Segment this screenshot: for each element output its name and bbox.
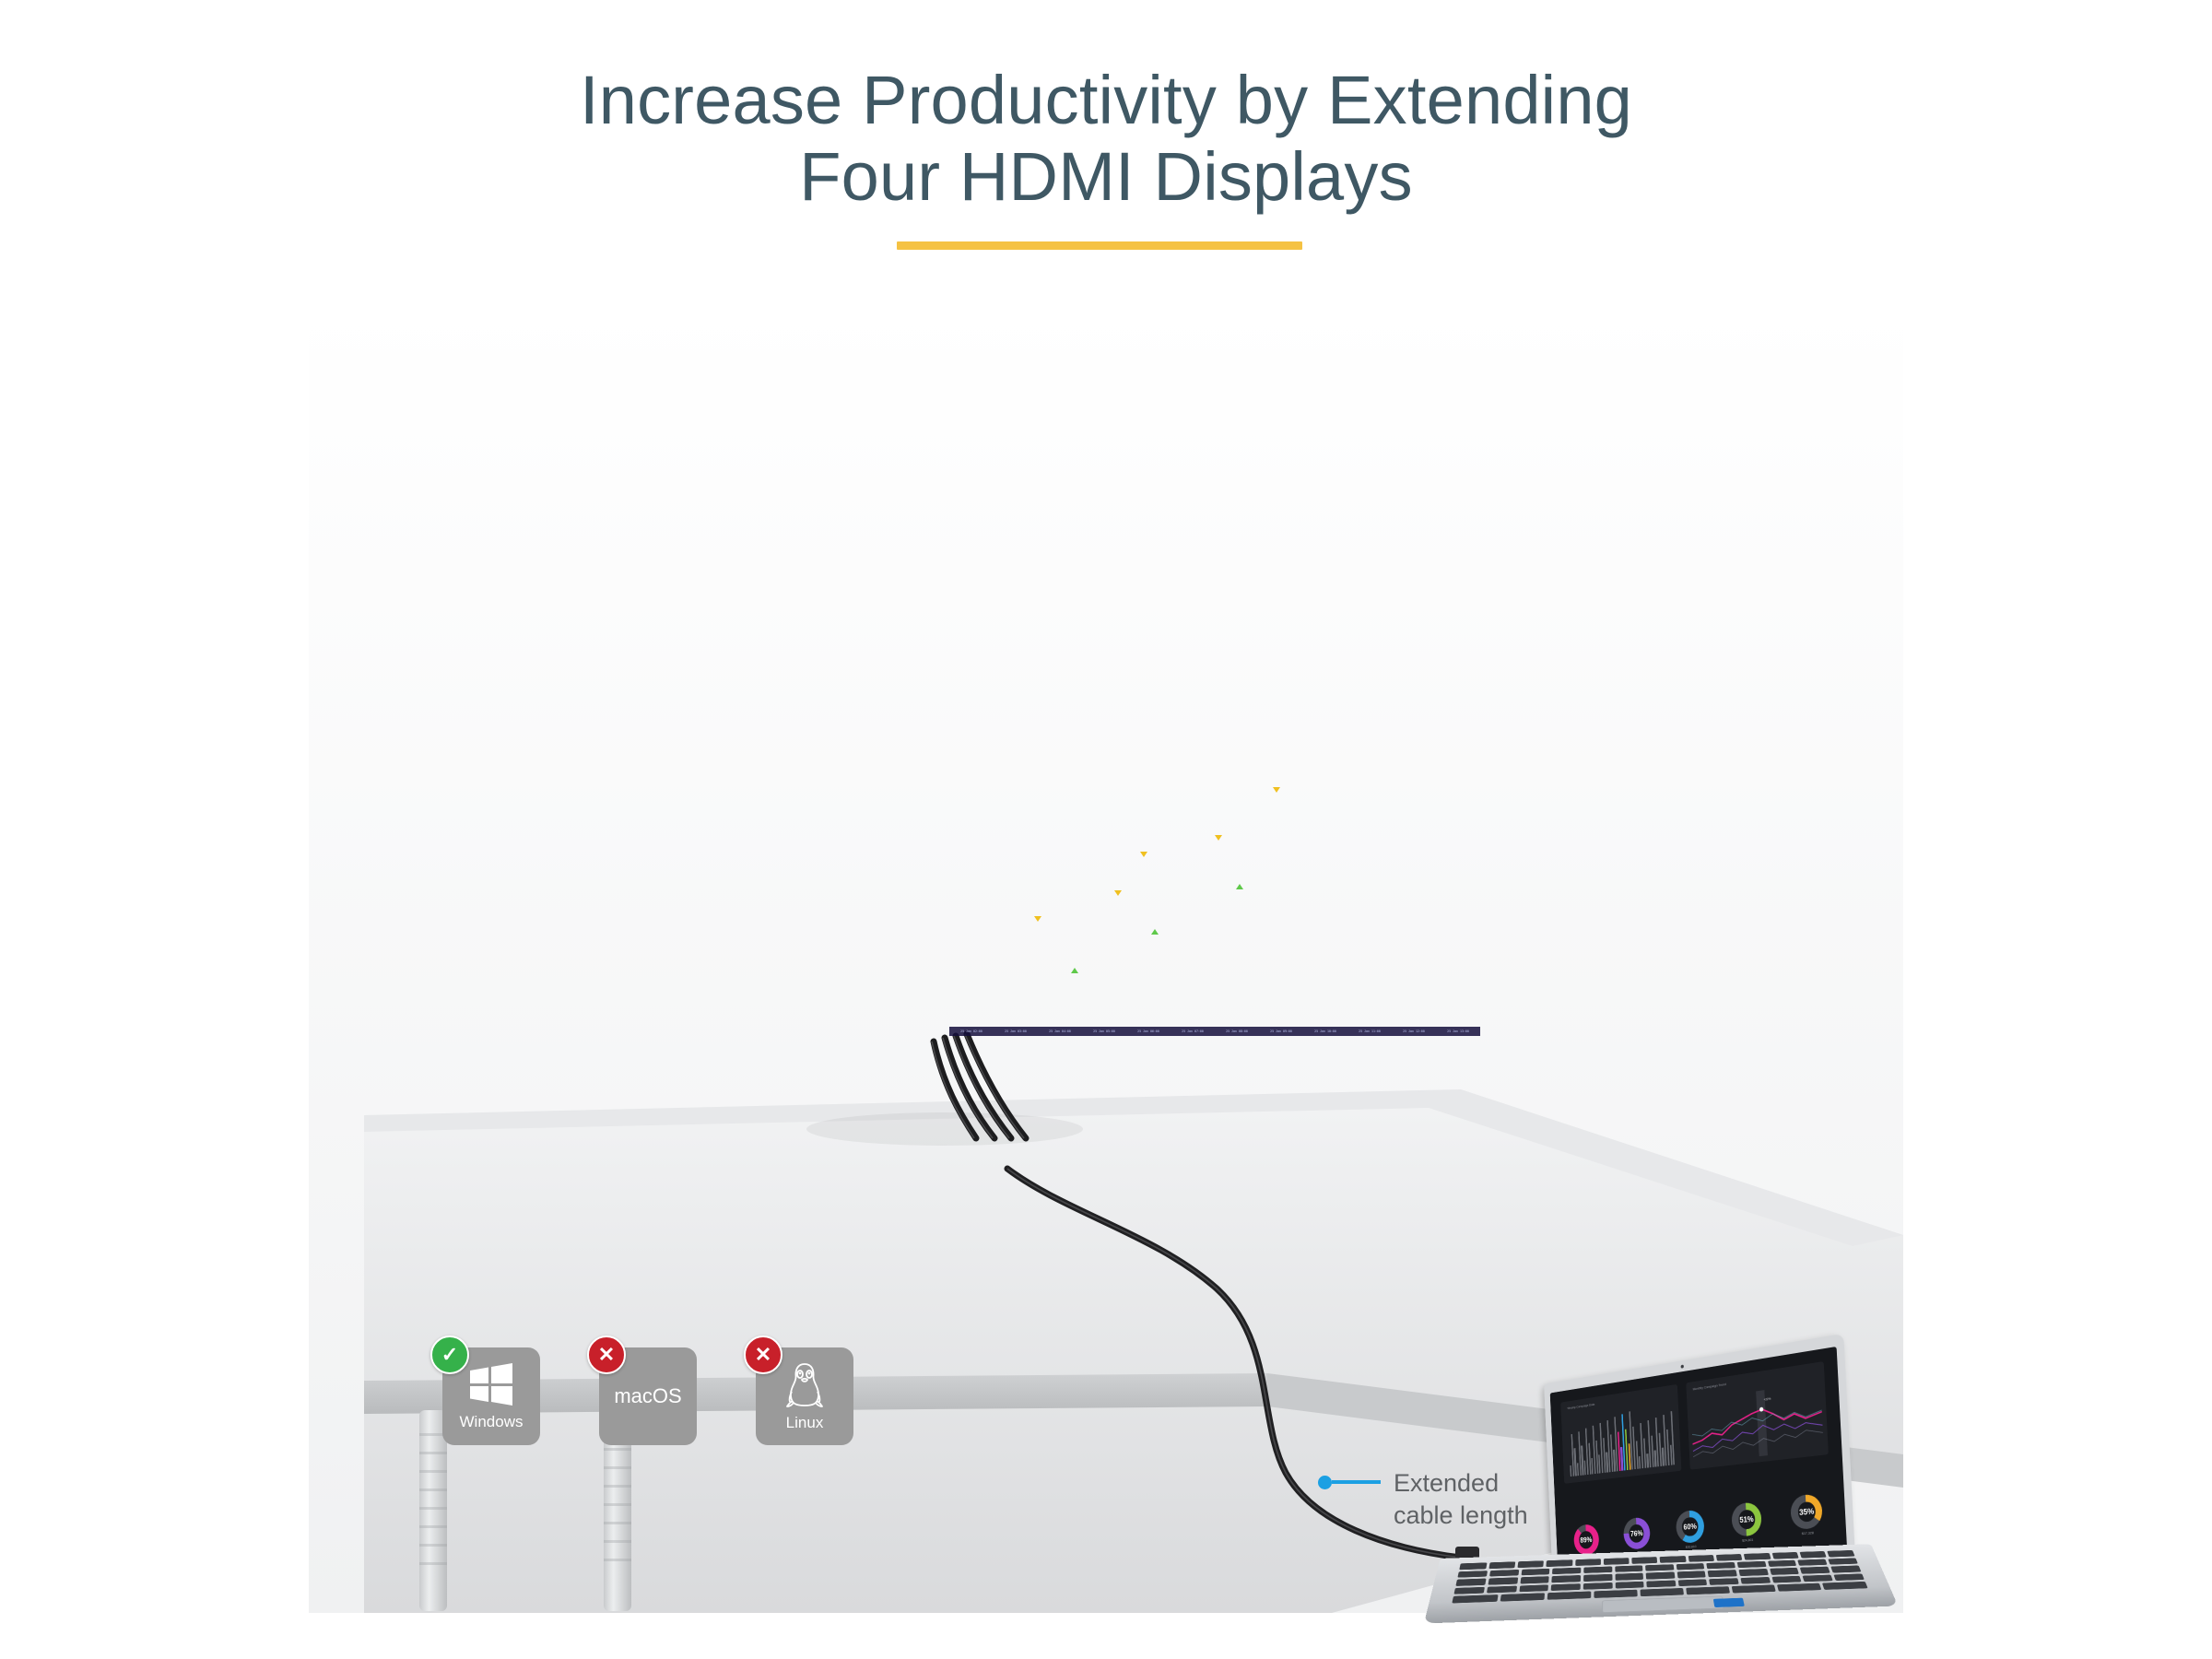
keyboard-key[interactable] bbox=[1707, 1562, 1735, 1570]
keyboard-key[interactable] bbox=[1688, 1555, 1715, 1561]
close-tab-icon[interactable]: × bbox=[686, 374, 688, 380]
balance-label: Balance: bbox=[765, 371, 813, 377]
timeframe-selector[interactable]: 30 days1 day3 hours30 min15 min5 min2 mi… bbox=[415, 662, 836, 674]
timeframe-option-2-min[interactable]: 2 min bbox=[776, 665, 836, 671]
table-cell: 400 bbox=[949, 400, 1031, 428]
chart-trend-tool-icon[interactable] bbox=[457, 610, 467, 620]
keyboard-key[interactable] bbox=[1458, 1571, 1488, 1578]
sentiment-lower-value: 40% bbox=[453, 581, 487, 589]
donut-percent-label: 51% bbox=[1738, 1510, 1756, 1530]
close-tab-icon[interactable]: × bbox=[641, 374, 644, 380]
keyboard-key[interactable] bbox=[1800, 1567, 1830, 1574]
keyboard-key[interactable] bbox=[1740, 1577, 1770, 1584]
support-24-7-tag: 24/7 bbox=[532, 681, 541, 687]
table-cell: 102.23 bbox=[1031, 455, 1121, 483]
keyboard-key[interactable] bbox=[1737, 1561, 1767, 1569]
keyboard-key[interactable] bbox=[1771, 1576, 1802, 1583]
timeframe-option-15-min[interactable]: 15 min bbox=[655, 663, 715, 673]
x-value-label: 16.432 bbox=[1369, 758, 1381, 761]
laptop-trackpad[interactable] bbox=[1602, 1596, 1724, 1613]
keyboard-key[interactable] bbox=[1677, 1571, 1706, 1579]
money-field[interactable]: Money 20 $ bbox=[843, 443, 926, 469]
monitor-top-left: Trading Zone EUR/USD×Bitcoin×Ethereum×Go… bbox=[384, 359, 937, 700]
table-row: 1,100210.57197.00231,630.33216,700.00 bbox=[949, 428, 1480, 455]
city-light bbox=[553, 913, 556, 916]
map-data-value: 61.07 bbox=[559, 806, 589, 818]
y-axis-label: 1.91243 bbox=[1465, 856, 1478, 860]
timeframe-option-30-days[interactable]: 30 days bbox=[415, 665, 475, 671]
grid-value-label: 6398.38 bbox=[1003, 793, 1017, 796]
monitor-stand-base bbox=[899, 1092, 965, 1116]
hub-label-band bbox=[969, 1159, 1035, 1166]
grid-value-label: 3756.82 bbox=[1247, 940, 1261, 944]
keyboard-key[interactable] bbox=[1800, 1551, 1827, 1558]
sidebar-item-favorites[interactable]: ★Favorites bbox=[395, 515, 410, 535]
monitor-screen: 21.172709.54217.8841.692730.12116.0961.0… bbox=[391, 712, 931, 1036]
city-light bbox=[855, 913, 858, 916]
mail-icon[interactable]: ✉ bbox=[609, 681, 614, 688]
symbol-settings-icon[interactable] bbox=[486, 401, 491, 406]
windows-logo-icon bbox=[467, 1362, 515, 1408]
os-card-macos: ✕ macOS bbox=[599, 1347, 697, 1445]
symbol-selector[interactable]: EUR/USD bbox=[424, 398, 491, 409]
time-stepper[interactable]: + − bbox=[843, 426, 926, 438]
title-underline-accent bbox=[897, 241, 1302, 250]
sentiment-higher: higher 60% bbox=[453, 445, 487, 462]
profit-display: Profit: +50% +$10 bbox=[843, 489, 926, 524]
time-axis-label: 25 Jan 04:00 bbox=[1038, 1030, 1082, 1033]
sell-signal-marker bbox=[1215, 835, 1222, 841]
instrument-tab-eur-usd[interactable]: EUR/USD× bbox=[469, 371, 519, 392]
grid-value-label: 6838.64 bbox=[1124, 768, 1138, 771]
profit-percent: +50% bbox=[843, 496, 926, 516]
table-cell: 72.48 bbox=[1031, 483, 1121, 511]
y-axis-label: 2.06936 bbox=[1465, 815, 1478, 818]
keyboard-key[interactable] bbox=[1828, 1550, 1855, 1557]
deal-info-value: 0:20 bbox=[555, 405, 582, 415]
os-compatibility-row: ✓ Windows ✕ macOS ✕ bbox=[442, 1347, 853, 1445]
table-header-row: ActualVolumeAverageCostMarketPriceAmount… bbox=[949, 366, 1480, 400]
grid-value-label: 7719.36 bbox=[1124, 719, 1138, 723]
keyboard-key[interactable] bbox=[1771, 1552, 1798, 1559]
keyboard-key[interactable] bbox=[1500, 1594, 1544, 1602]
time-axis: 25 Jan 02:0025 Jan 03:0025 Jan 04:0025 J… bbox=[949, 1027, 1480, 1036]
keyboard-key[interactable] bbox=[1547, 1559, 1572, 1567]
time-axis-label: 25 Jan 03:00 bbox=[994, 1030, 1038, 1033]
grid-value-label: 5077.6 bbox=[1369, 866, 1381, 870]
keyboard-key[interactable] bbox=[1830, 1566, 1861, 1573]
y-axis-label: 1.33702 bbox=[1465, 1009, 1478, 1013]
time-axis-label: 25 Jan 07:00 bbox=[1171, 1030, 1215, 1033]
keyboard-key[interactable] bbox=[1678, 1579, 1708, 1586]
grid-value-label: 4637.34 bbox=[1003, 891, 1017, 895]
keyboard-key[interactable] bbox=[1456, 1579, 1487, 1586]
x-value-label: 16.432 bbox=[1369, 946, 1381, 949]
keyboard-key[interactable] bbox=[1660, 1556, 1686, 1562]
sidebar-item-label: Accounts bbox=[395, 426, 410, 429]
x-value-label: 14.160 bbox=[1135, 858, 1147, 862]
y-axis-label: 2.22629 bbox=[1465, 773, 1478, 777]
instrument-tab-oil-brent[interactable]: Oil Brent× bbox=[694, 372, 739, 392]
table-cell: 101,675.56 bbox=[1209, 400, 1345, 428]
os-label-macos: macOS bbox=[614, 1384, 681, 1408]
grid-value-label: 7719.36 bbox=[1369, 719, 1382, 723]
x-value-label: 13.592 bbox=[1077, 858, 1088, 862]
timeframe-option-3-hours[interactable]: 3 hours bbox=[535, 665, 595, 671]
y-axis-label: 2.43011 bbox=[1465, 717, 1478, 721]
map-data-value: 5.88 bbox=[791, 978, 829, 996]
money-plus-button[interactable]: + bbox=[843, 472, 884, 484]
close-tab-icon[interactable]: × bbox=[513, 372, 516, 378]
deal-info-key: Amount of investment bbox=[594, 397, 641, 403]
keyboard-key[interactable] bbox=[1489, 1570, 1519, 1577]
grid-value-label: 3756.82 bbox=[1369, 940, 1382, 944]
world-map-display: 21.172709.54217.8841.692730.12116.0961.0… bbox=[391, 712, 931, 1036]
avatar[interactable] bbox=[818, 371, 835, 389]
map-data-value: 2730.12 bbox=[418, 819, 460, 831]
symbol-dot-icon bbox=[424, 400, 432, 408]
notification-badge: 3 bbox=[406, 407, 414, 415]
portfolio-table: ActualVolumeAverageCostMarketPriceAmount… bbox=[949, 366, 1480, 566]
x-value-label: 17.000 bbox=[1427, 858, 1439, 862]
grid-value-label: 3316.56 bbox=[1124, 965, 1138, 969]
sidebar-item-accounts[interactable]: ⌂3Accounts bbox=[395, 410, 410, 429]
timeframe-option-5-min[interactable]: 5 min bbox=[715, 665, 775, 671]
support-label: Support Service bbox=[548, 681, 588, 687]
map-data-value: -1.89 bbox=[801, 865, 820, 872]
keyboard-key[interactable] bbox=[1547, 1592, 1591, 1600]
keyboard-key[interactable] bbox=[1716, 1554, 1743, 1560]
monitor-bottom-left: 21.172709.54217.8841.692730.12116.0961.0… bbox=[384, 706, 937, 1042]
keyboard-key[interactable] bbox=[1517, 1561, 1544, 1569]
scene-container: Trading Zone EUR/USD×Bitcoin×Ethereum×Go… bbox=[309, 304, 1903, 1613]
keyboard-key[interactable] bbox=[1575, 1559, 1601, 1565]
sidebar-item-chats[interactable]: ✉5Chats bbox=[395, 445, 410, 465]
kpi-donut-51: 51%$24,801 bbox=[1720, 1500, 1774, 1544]
city-light bbox=[445, 875, 448, 877]
keyboard-key[interactable] bbox=[1521, 1569, 1549, 1576]
home-icon: ⌂3 bbox=[395, 410, 410, 425]
y-axis-label: 2.38522 bbox=[1465, 731, 1478, 735]
keyboard-key[interactable] bbox=[1594, 1590, 1637, 1598]
keyboard-key[interactable] bbox=[1646, 1580, 1676, 1587]
x-value-label: 17.000 bbox=[1427, 946, 1439, 949]
map-data-value: 87.2 bbox=[461, 854, 474, 861]
keyboard-key[interactable] bbox=[1645, 1564, 1674, 1571]
timeframe-option-1-day[interactable]: 1 day bbox=[475, 665, 535, 671]
sell-signal-marker bbox=[1114, 890, 1122, 896]
callout-line-1: Extended bbox=[1394, 1467, 1528, 1500]
sidebar-item-statistics[interactable]: ▓Statistics bbox=[395, 550, 410, 570]
grid-value-label: 3756.82 bbox=[1003, 940, 1017, 944]
sell-signal-marker bbox=[1140, 852, 1147, 857]
time-axis-label: 25 Jan 08:00 bbox=[1215, 1030, 1259, 1033]
keyboard-key[interactable] bbox=[1803, 1575, 1833, 1583]
volume-icon[interactable]: 🔈 bbox=[396, 680, 406, 688]
sidebar-item-label: Search bbox=[395, 496, 410, 500]
deal-info-value: 35$ bbox=[653, 405, 667, 415]
instrument-tab-ethereum[interactable]: Ethereum× bbox=[563, 372, 612, 392]
map-data-value: 70.21 bbox=[758, 841, 796, 856]
keyboard-key[interactable] bbox=[1488, 1562, 1515, 1570]
instrument-tab-bitcoin[interactable]: Bitcoin× bbox=[522, 372, 561, 392]
keyboard-key[interactable] bbox=[1487, 1586, 1517, 1594]
keyboard-key[interactable] bbox=[1828, 1558, 1857, 1565]
monitor-bezel: Trading Zone EUR/USD×Bitcoin×Ethereum×Go… bbox=[384, 359, 937, 700]
donut-percent-label: 60% bbox=[1682, 1517, 1699, 1536]
timeframe-option-30-min[interactable]: 30 min bbox=[595, 665, 655, 671]
close-tab-icon[interactable]: × bbox=[735, 374, 737, 380]
instrument-tabs[interactable]: EUR/USD×Bitcoin×Ethereum×Gold×Oil WTI×Oi… bbox=[469, 368, 740, 392]
keyboard-key[interactable] bbox=[1676, 1563, 1704, 1571]
donut-ring: 51% bbox=[1731, 1501, 1762, 1537]
map-data-value: -2.87% bbox=[801, 813, 824, 820]
financial-table-display: ActualVolumeAverageCostMarketPriceAmount… bbox=[949, 366, 1480, 694]
buy-arrow-icon: ↗ bbox=[895, 538, 903, 547]
keyboard-key[interactable] bbox=[1770, 1568, 1799, 1575]
money-stepper[interactable]: + − bbox=[843, 472, 926, 484]
callout-line-2: cable length bbox=[1394, 1500, 1528, 1532]
map-data-value: 39.75 bbox=[418, 852, 434, 858]
table-cell: 216,700.00 bbox=[1345, 428, 1480, 455]
keyboard-key[interactable] bbox=[1768, 1560, 1797, 1568]
keyboard-key[interactable] bbox=[1583, 1583, 1612, 1590]
table-cell: 1,500 bbox=[949, 511, 1031, 538]
map-data-value: 19.02 bbox=[526, 875, 546, 882]
grid-value-label: 7278.9 bbox=[1247, 744, 1259, 747]
keyboard-key[interactable] bbox=[1739, 1569, 1769, 1576]
deal-info-key: Profit bbox=[653, 397, 667, 403]
keyboard-key[interactable] bbox=[1710, 1578, 1739, 1585]
instrument-tab-label: Bitcoin bbox=[531, 378, 552, 386]
keyboard-key[interactable] bbox=[1604, 1558, 1630, 1564]
map-data-value: -1.77 bbox=[644, 948, 661, 955]
laptop-screen: Weekly Campaign Data Monthly Campaign Tr… bbox=[1544, 1334, 1855, 1576]
time-minus-button[interactable]: − bbox=[887, 426, 927, 438]
profit-amount: +$10 bbox=[843, 516, 926, 524]
sell-button[interactable]: SELL↘ bbox=[843, 558, 926, 582]
keyboard-key[interactable] bbox=[1453, 1594, 1498, 1603]
monitor-screen: ActualVolumeAverageCostMarketPriceAmount… bbox=[949, 366, 1480, 694]
map-data-value: 337.32 bbox=[466, 984, 513, 999]
table-cell: 194.53 bbox=[1031, 511, 1121, 538]
x-value-label: 12.456 bbox=[960, 946, 972, 949]
y-axis-label: 1.49395 bbox=[1465, 968, 1478, 971]
power-icon[interactable]: ○ bbox=[413, 680, 418, 688]
sell-button-label: SELL bbox=[864, 562, 897, 577]
add-tab-button[interactable]: + bbox=[745, 371, 760, 388]
grid-value-label: 5958.12 bbox=[1369, 818, 1382, 821]
keyboard-key[interactable] bbox=[1777, 1583, 1821, 1592]
table-cell: 210.57 bbox=[1031, 428, 1121, 455]
grid-value-label: 4637.34 bbox=[1124, 891, 1138, 895]
table-cell: 162.50 bbox=[1121, 538, 1209, 566]
donut-sub-label: $30,810 bbox=[1686, 1544, 1697, 1548]
time-plus-button[interactable]: + bbox=[843, 426, 884, 438]
keyboard-key[interactable] bbox=[1646, 1572, 1675, 1580]
table-cell: 197.00 bbox=[1121, 428, 1209, 455]
grid-value-label: 5517.86 bbox=[1124, 841, 1138, 845]
table-cell: 400 bbox=[949, 455, 1031, 483]
x-value-label: 14.160 bbox=[1135, 758, 1147, 761]
map-data-value: 19.09 bbox=[677, 907, 708, 919]
buy-button[interactable]: BUY↗ bbox=[843, 530, 926, 554]
time-axis-label: 25 Jan 09:00 bbox=[1259, 1030, 1303, 1033]
monitor-screen: 7719.367719.367719.367719.367278.97278.9… bbox=[949, 712, 1480, 1036]
keyboard-key[interactable] bbox=[1583, 1574, 1612, 1582]
map-data-value: -3.12% bbox=[666, 890, 689, 898]
laptop-keyboard bbox=[1453, 1550, 1867, 1603]
keyboard-key[interactable] bbox=[1552, 1575, 1581, 1583]
keyboard-key[interactable] bbox=[1797, 1559, 1827, 1566]
map-data-value: 9.2 bbox=[429, 884, 459, 903]
x-value-label: 15.296 bbox=[1252, 858, 1264, 862]
table-cell: 40,890.72 bbox=[1209, 455, 1345, 483]
table-column-header: Amount(Price) bbox=[1209, 366, 1345, 400]
table-cell: 231,630.33 bbox=[1209, 428, 1345, 455]
map-data-value: 4217.07 bbox=[785, 832, 820, 841]
map-data-value: 5.68 bbox=[536, 935, 552, 943]
x-value-label: 14.728 bbox=[1194, 946, 1206, 949]
os-label-linux: Linux bbox=[786, 1414, 824, 1432]
keyboard-key[interactable] bbox=[1551, 1583, 1581, 1591]
title-line-2: Four HDMI Displays bbox=[0, 139, 2212, 216]
keyboard-key[interactable] bbox=[1631, 1557, 1657, 1563]
table-column-header: MarketPrice bbox=[1121, 366, 1209, 400]
keyboard-key[interactable] bbox=[1686, 1586, 1730, 1594]
overlay-area-chart bbox=[949, 553, 1470, 665]
monitor-bezel: 21.172709.54217.8841.692730.12116.0961.0… bbox=[384, 706, 937, 1042]
keyboard-key[interactable] bbox=[1833, 1573, 1864, 1581]
monitor-bottom-right: 7719.367719.367719.367719.367278.97278.9… bbox=[943, 706, 1487, 1042]
hdmi-splitter-hub bbox=[967, 1138, 1037, 1170]
grid-value-label: 4637.34 bbox=[1369, 891, 1382, 895]
display-icon[interactable] bbox=[449, 374, 465, 386]
table-row: 1,500194.53185.50291,788.00278,250.00 bbox=[949, 511, 1480, 538]
y-axis-label: 1.44164 bbox=[1465, 982, 1478, 985]
keyboard-key[interactable] bbox=[1552, 1568, 1581, 1575]
x-value-label: 13.592 bbox=[1077, 758, 1088, 761]
x-value-label: 15.296 bbox=[1252, 758, 1264, 761]
y-axis-label: 1.86012 bbox=[1465, 870, 1478, 874]
keyboard-key[interactable] bbox=[1615, 1573, 1643, 1581]
time-field[interactable]: Time 1:12 bbox=[843, 397, 926, 423]
grid-value-label: 2876.30 bbox=[1124, 989, 1138, 993]
sidebar-item-search[interactable]: ⚲Search bbox=[395, 480, 410, 500]
keyboard-key[interactable] bbox=[1615, 1565, 1643, 1572]
buy-signal-marker bbox=[1071, 968, 1078, 973]
grid-value-label: 7278.9 bbox=[1124, 744, 1136, 747]
keyboard-key[interactable] bbox=[1732, 1585, 1776, 1594]
chart-tool-buttons[interactable] bbox=[457, 610, 467, 646]
grid-value-label: 4637.34 bbox=[1247, 891, 1261, 895]
grid-value-label: 6838.64 bbox=[1247, 768, 1261, 771]
y-axis-label: 1.59857 bbox=[1465, 940, 1478, 944]
callout-dot-icon bbox=[1318, 1476, 1332, 1489]
instrument-tab-oil-wti[interactable]: Oil WTI× bbox=[650, 372, 691, 392]
table-cell: 1,000 bbox=[949, 483, 1031, 511]
cross-badge-icon: ✕ bbox=[744, 1335, 782, 1374]
trading-app-sidebar[interactable]: ⌂3Accounts✉5Chats⚲Search★Favorites▓Stati… bbox=[391, 394, 415, 674]
instrument-tab-gold[interactable]: Gold× bbox=[615, 372, 648, 392]
y-axis-label: 1.70319 bbox=[1465, 912, 1478, 916]
grid-value-label: 6838.64 bbox=[1003, 768, 1017, 771]
table-column-header: AverageCost bbox=[1031, 366, 1121, 400]
price-chart-area[interactable]: EUR/USD Closing time0:20Amount of invest… bbox=[415, 394, 836, 659]
instrument-tab-label: Gold bbox=[624, 378, 639, 386]
chart-list-tool-icon[interactable] bbox=[457, 636, 467, 646]
instrument-tab-label: Oil WTI bbox=[659, 378, 682, 386]
kpi-donut-35: 35%$17,328 bbox=[1778, 1492, 1836, 1537]
table-cell: 400 bbox=[949, 538, 1031, 566]
donut-ring: 35% bbox=[1790, 1493, 1823, 1530]
close-tab-icon[interactable]: × bbox=[606, 374, 609, 380]
map-data-value: 217.88 bbox=[644, 725, 671, 734]
map-data-value: 8.57 bbox=[704, 916, 724, 925]
keyboard-key[interactable] bbox=[1488, 1578, 1518, 1585]
monitor-bezel: 7719.367719.367719.367719.367278.97278.9… bbox=[943, 706, 1487, 1042]
laptop-dashboard: Weekly Campaign Data Monthly Campaign Tr… bbox=[1550, 1347, 1848, 1570]
trading-app-statusbar: 🔈 ○ 24/7 Support Service ☎ ✉ Current tim… bbox=[391, 674, 931, 694]
close-tab-icon[interactable]: × bbox=[555, 374, 558, 380]
keyboard-key[interactable] bbox=[1615, 1582, 1644, 1589]
grid-value-label: 4197.08 bbox=[1369, 915, 1382, 919]
keyboard-key[interactable] bbox=[1744, 1553, 1771, 1559]
support-service-banner[interactable]: 24/7 Support Service ☎ ✉ bbox=[526, 678, 619, 690]
map-data-value: 197.21 bbox=[585, 959, 629, 972]
sell-signal-marker bbox=[1034, 916, 1041, 922]
keyboard-key[interactable] bbox=[1454, 1587, 1485, 1594]
instrument-tab-label: EUR/USD bbox=[478, 376, 510, 384]
price-chart-svg bbox=[415, 394, 836, 659]
grid-value-label: 4197.08 bbox=[1247, 915, 1261, 919]
map-data-value: 14.99 bbox=[763, 965, 791, 975]
grid-value-label: 5958.12 bbox=[1124, 818, 1138, 821]
city-light bbox=[640, 803, 642, 806]
chart-type-tool-icon[interactable] bbox=[457, 623, 467, 633]
grid-value-label: 2876.30 bbox=[1247, 989, 1261, 993]
phone-icon[interactable]: ☎ bbox=[594, 681, 601, 688]
monitor-top-right: ActualVolumeAverageCostMarketPriceAmount… bbox=[943, 359, 1487, 700]
keyboard-key[interactable] bbox=[1460, 1563, 1488, 1571]
grid-value-label: 3316.56 bbox=[1003, 965, 1017, 969]
keyboard-key[interactable] bbox=[1583, 1566, 1612, 1573]
keyboard-key[interactable] bbox=[1640, 1588, 1684, 1596]
keyboard-key[interactable] bbox=[1520, 1576, 1549, 1583]
keyboard-key[interactable] bbox=[1519, 1584, 1548, 1592]
deal-info-cell: Closing time0:20 bbox=[555, 397, 582, 415]
table-cell: 72,477.08 bbox=[1209, 483, 1345, 511]
table-cell: 46,200.00 bbox=[1345, 455, 1480, 483]
y-axis-label: 1.38933 bbox=[1465, 995, 1478, 999]
candlestick-display: 7719.367719.367719.367719.367278.97278.9… bbox=[949, 712, 1480, 1036]
sell-arrow-icon: ↘ bbox=[898, 566, 906, 574]
map-data-value: 1.45 bbox=[423, 997, 436, 1004]
deal-info-cell: Profit35$ bbox=[653, 397, 667, 415]
donut-percent-label: 35% bbox=[1797, 1501, 1816, 1522]
fullscreen-icon[interactable]: ⤢ bbox=[920, 679, 925, 688]
title-line-1: Increase Productivity by Extending bbox=[0, 63, 2212, 139]
city-light bbox=[823, 900, 826, 903]
keyboard-key[interactable] bbox=[1822, 1582, 1867, 1590]
grid-value-label: 6398.38 bbox=[1124, 793, 1138, 796]
money-minus-button[interactable]: − bbox=[887, 472, 927, 484]
y-axis-label: 1.54626 bbox=[1465, 954, 1478, 958]
order-marker: 205 bbox=[581, 508, 595, 516]
symbol-name: EUR/USD bbox=[436, 398, 482, 409]
page-title: Increase Productivity by Extending Four … bbox=[0, 63, 2212, 216]
keyboard-key[interactable] bbox=[1708, 1570, 1737, 1577]
